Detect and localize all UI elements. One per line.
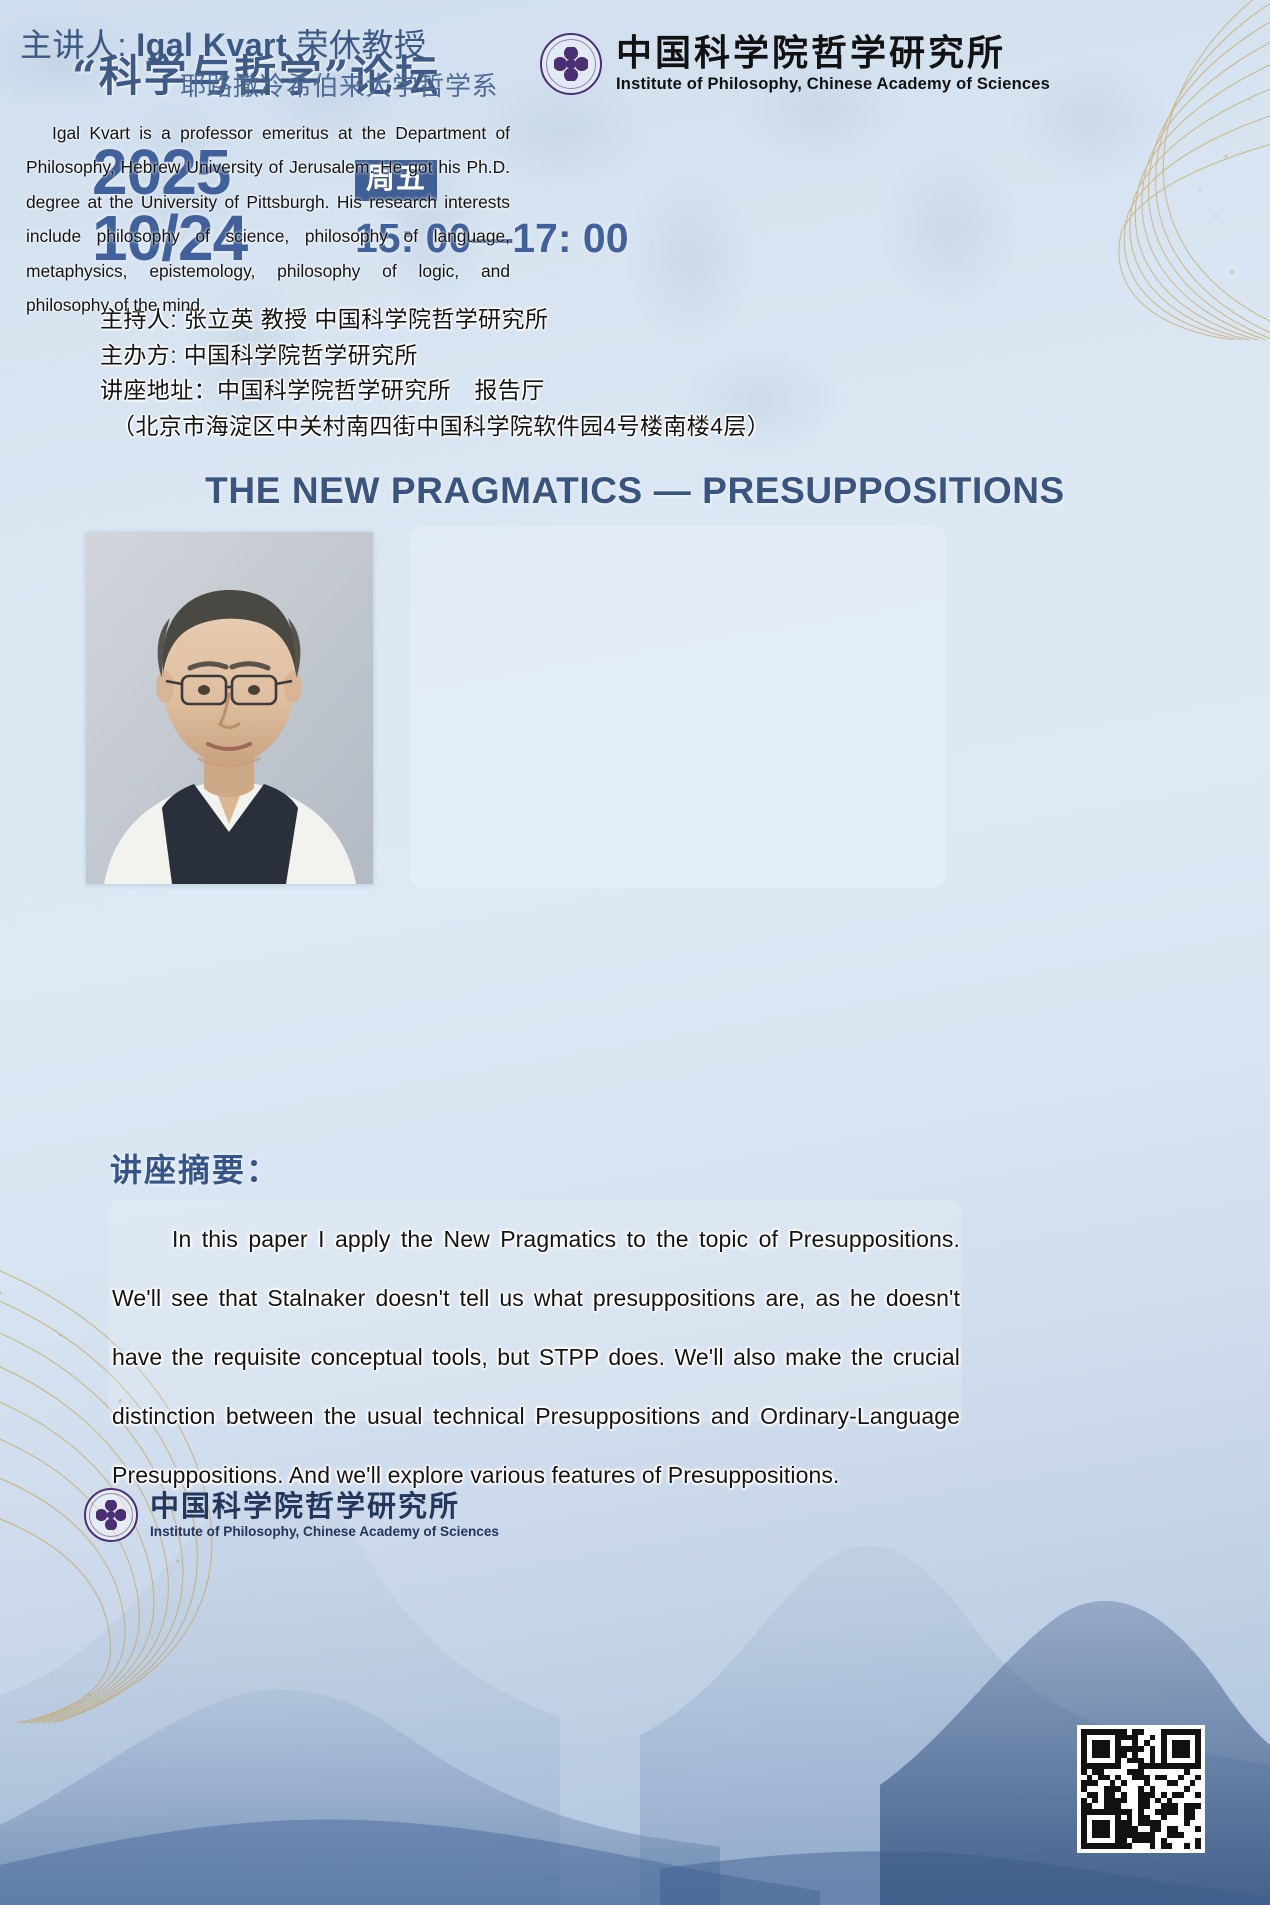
abstract-text: In this paper I apply the New Pragmatics… [112,1226,960,1488]
footer-institute-logo: 中国科学院哲学研究所 Institute of Philosophy, Chin… [84,1488,499,1542]
cas-philosophy-seal-icon [84,1488,138,1542]
info-line-organizer: 主办方: 中国科学院哲学研究所 [100,338,1000,374]
qr-code-icon[interactable] [1077,1725,1205,1853]
abstract-heading: 讲座摘要： [110,1145,280,1191]
speaker-honorific: 荣休教授 [287,27,426,63]
speaker-name: Igal Kvart [136,27,287,63]
speaker-affiliation: 耶路撒冷希伯来大学哲学系 [20,66,520,103]
institute-name-cn: 中国科学院哲学研究所 [616,34,1050,73]
lecture-title: THE NEW PRAGMATICS — PRESUPPOSITIONS [0,470,1270,512]
institute-name-en: Institute of Philosophy, Chinese Academy… [616,75,1050,94]
poster-canvas: “科学与哲学”论坛 中国科学院哲学研究所 Institute of Philos… [0,0,1270,1905]
event-info-lines: 主持人: 张立英 教授 中国科学院哲学研究所 主办方: 中国科学院哲学研究所 讲… [100,302,1000,445]
header-institute-logo: 中国科学院哲学研究所 Institute of Philosophy, Chin… [540,33,1050,95]
cas-philosophy-seal-icon [540,33,602,95]
footer-institute-name-en: Institute of Philosophy, Chinese Academy… [150,1524,499,1539]
bio-text: Igal Kvart is a professor emeritus at th… [26,123,510,315]
info-line-venue: 讲座地址：中国科学院哲学研究所 报告厅 [100,373,1000,409]
speaker-name-line: 主讲人: Igal Kvart 荣休教授 [20,20,520,66]
speaker-label: 主讲人: [20,27,136,63]
abstract-body: In this paper I apply the New Pragmatics… [112,1210,960,1504]
speaker-portrait [86,532,373,884]
speaker-bio: Igal Kvart is a professor emeritus at th… [26,116,510,323]
info-line-address: （北京市海淀区中关村南四街中国科学院软件园4号楼南楼4层） [100,409,1000,445]
footer-institute-name-cn: 中国科学院哲学研究所 [150,1491,499,1523]
speaker-info-card [410,526,946,888]
